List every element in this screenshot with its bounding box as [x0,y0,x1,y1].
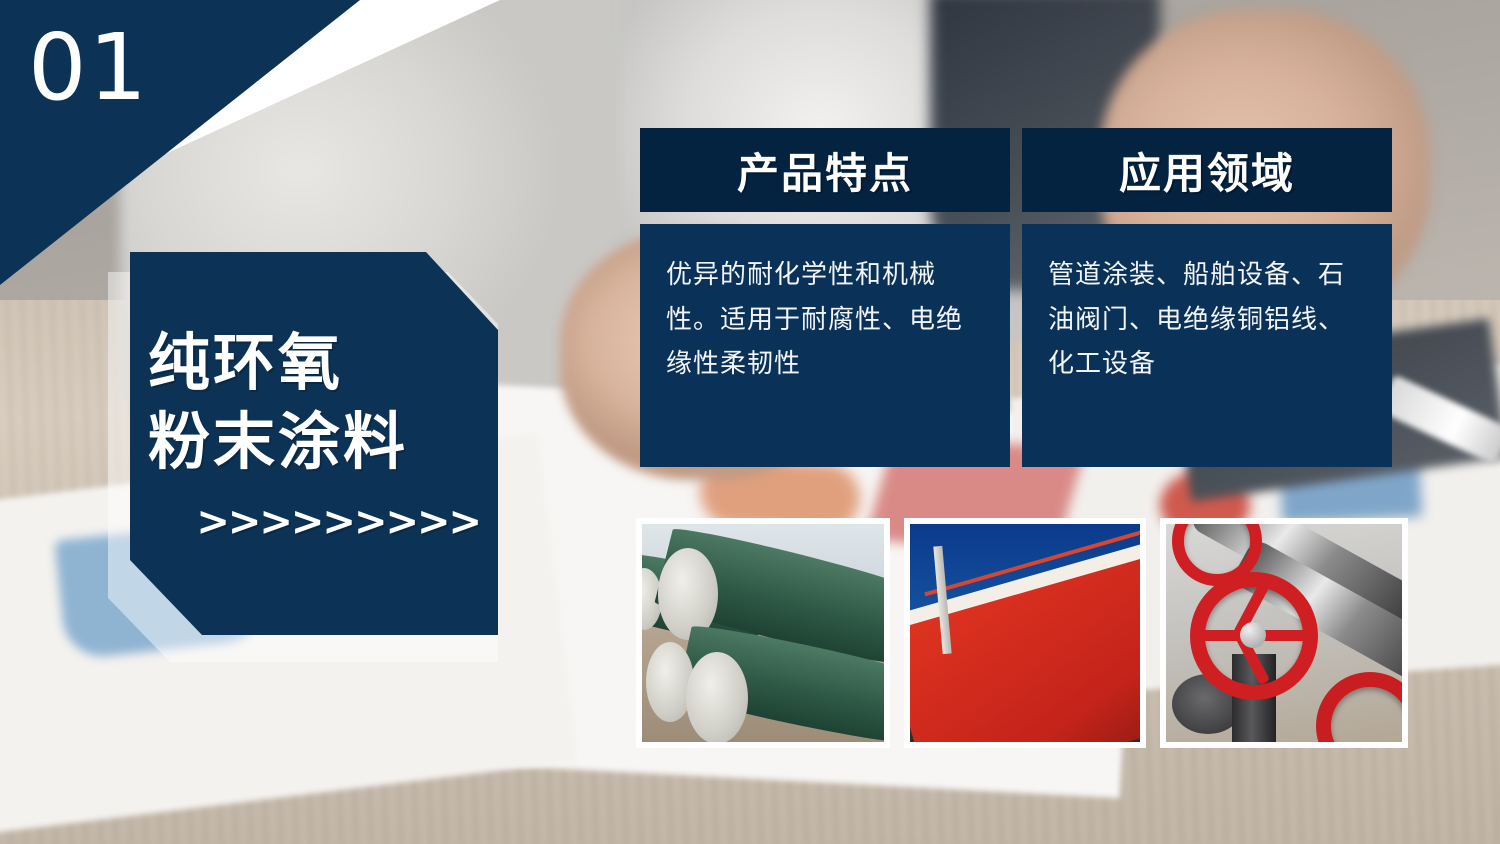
panel-application-fields: 应用领域 管道涂装、船舶设备、石油阀门、电绝缘铜铝线、化工设备 [1022,128,1392,467]
info-panels: 产品特点 优异的耐化学性和机械性。适用于耐腐性、电绝缘性柔韧性 应用领域 管道涂… [640,128,1392,467]
panel-product-features: 产品特点 优异的耐化学性和机械性。适用于耐腐性、电绝缘性柔韧性 [640,128,1010,467]
thumbnail-red-valve-handwheels [1160,518,1408,748]
thumbnail-coated-steel-pipes [636,518,890,748]
title-line-1: 纯环氧 [130,324,498,403]
panel-heading-application-fields: 应用领域 [1022,128,1392,212]
chevron-arrows-icon: >>>>>>>>> [130,499,498,545]
image-strip [636,518,1408,748]
thumbnail-red-ship-hull [904,518,1146,748]
panel-heading-product-features: 产品特点 [640,128,1010,212]
valve-handwheel-lower [1316,672,1402,742]
title-line-2: 粉末涂料 [130,403,498,482]
pipe-cap-main [658,548,718,640]
panel-heading-text: 产品特点 [737,140,913,201]
pipe-cap-lower-right [686,652,748,742]
photo-red-valve-handwheels [1166,524,1402,742]
photo-red-ship-hull [910,524,1140,742]
panel-body-text: 管道涂装、船舶设备、石油阀门、电绝缘铜铝线、化工设备 [1048,252,1366,386]
photo-coated-steel-pipes [642,524,884,742]
section-number: 01 [28,22,149,114]
panel-body-product-features: 优异的耐化学性和机械性。适用于耐腐性、电绝缘性柔韧性 [640,224,1010,467]
valve-stem-nut [1240,622,1266,648]
panel-body-application-fields: 管道涂装、船舶设备、石油阀门、电绝缘铜铝线、化工设备 [1022,224,1392,467]
panel-heading-text: 应用领域 [1119,140,1295,201]
panel-body-text: 优异的耐化学性和机械性。适用于耐腐性、电绝缘性柔韧性 [666,252,984,386]
title-card: 纯环氧 粉末涂料 >>>>>>>>> [130,252,498,635]
